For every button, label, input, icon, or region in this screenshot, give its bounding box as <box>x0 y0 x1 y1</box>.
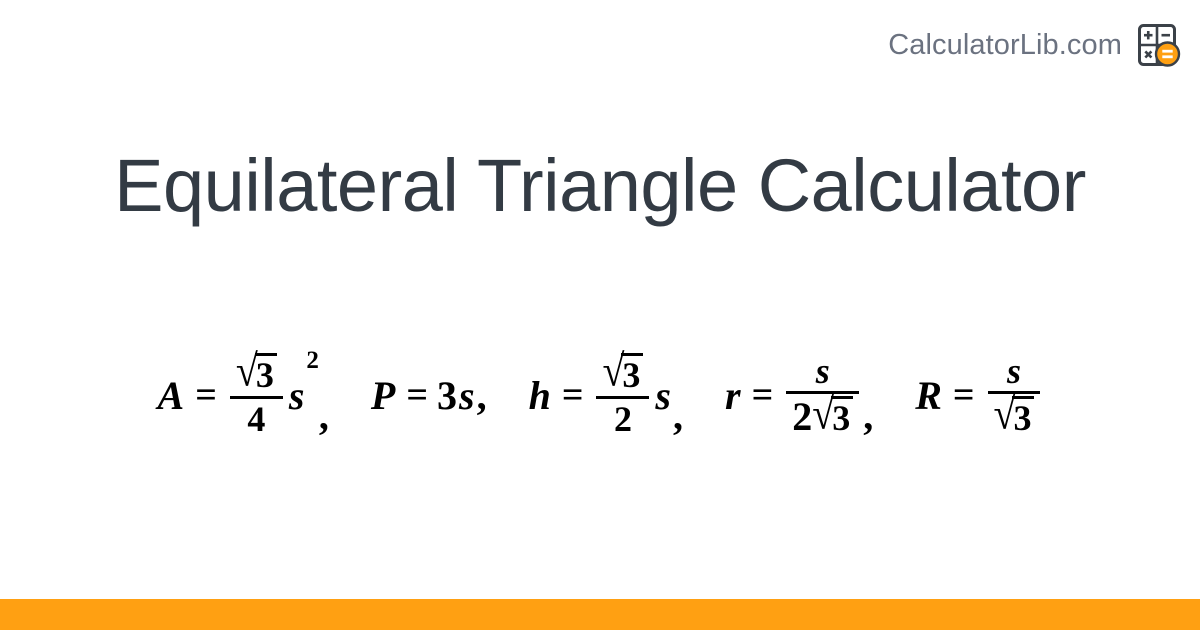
radicand: 3 <box>1012 396 1034 437</box>
formula-inradius-equation: r = s 2 √ 3 , <box>723 351 873 439</box>
perimeter-equals-sign: = <box>406 373 428 417</box>
sqrt-group: √ 3 <box>994 396 1035 437</box>
height-equals-sign: = <box>562 373 584 417</box>
page-title: Equilateral Triangle Calculator <box>0 146 1200 226</box>
perimeter-coefficient: 3 <box>437 372 457 419</box>
calculator-icon[interactable] <box>1136 22 1182 68</box>
radical-sign: √ <box>602 351 624 397</box>
area-numerator: √ 3 <box>230 351 283 396</box>
radicand: 3 <box>255 353 277 394</box>
height-variable: s <box>653 372 673 419</box>
area-denominator: 4 <box>241 399 271 439</box>
radical-sign: √ <box>812 394 834 440</box>
sqrt-group: √ 3 <box>602 353 643 394</box>
inradius-fraction: s 2 √ 3 <box>786 351 859 439</box>
inradius-denominator: 2 √ 3 <box>786 394 859 439</box>
formula-height-equation: h = √ 3 2 s , <box>527 351 683 439</box>
perimeter-separator: , <box>477 372 487 419</box>
circumradius-fraction: s √ 3 <box>988 351 1041 439</box>
area-separator: , <box>319 392 329 439</box>
sqrt-group: √ 3 <box>812 396 853 437</box>
radicand: 3 <box>621 353 643 394</box>
sqrt-group: √ 3 <box>236 353 277 394</box>
inradius-symbol: r <box>723 372 743 419</box>
brand-row[interactable]: CalculatorLib.com <box>888 22 1182 68</box>
inradius-denominator-coefficient: 2 <box>792 397 812 437</box>
area-symbol: A <box>156 372 187 419</box>
inradius-equals-sign: = <box>752 373 774 417</box>
circumradius-symbol: R <box>913 372 944 419</box>
height-denominator: 2 <box>608 399 638 439</box>
radical-sign: √ <box>236 351 258 397</box>
radicand: 3 <box>831 396 853 437</box>
social-card: CalculatorLib.com Equilateral Triangle C… <box>0 0 1200 630</box>
circumradius-denominator: √ 3 <box>988 394 1041 439</box>
circumradius-numerator: s <box>1001 351 1027 391</box>
brand-name: CalculatorLib.com <box>888 31 1122 60</box>
height-separator: , <box>673 392 683 439</box>
formula-line: A = √ 3 4 s 2 , <box>156 351 1045 439</box>
inradius-numerator: s <box>810 351 836 391</box>
height-fraction: √ 3 2 <box>596 351 649 439</box>
formula-area-equation: A = √ 3 4 s 2 , <box>156 351 329 439</box>
area-variable: s <box>287 372 307 419</box>
perimeter-variable: s <box>457 372 477 419</box>
height-numerator: √ 3 <box>596 351 649 396</box>
radical-sign: √ <box>994 394 1016 440</box>
formula-strip: A = √ 3 4 s 2 , <box>0 300 1200 490</box>
area-equals-sign: = <box>195 373 217 417</box>
area-exponent: 2 <box>306 347 319 375</box>
formula-perimeter-equation: P = 3 s , <box>369 372 487 419</box>
area-fraction: √ 3 4 <box>230 351 283 439</box>
inradius-separator: , <box>863 392 873 439</box>
perimeter-symbol: P <box>369 372 397 419</box>
circumradius-equals-sign: = <box>953 373 975 417</box>
bottom-accent-bar <box>0 599 1200 630</box>
height-symbol: h <box>527 372 553 419</box>
formula-circumradius-equation: R = s √ 3 <box>913 351 1044 439</box>
